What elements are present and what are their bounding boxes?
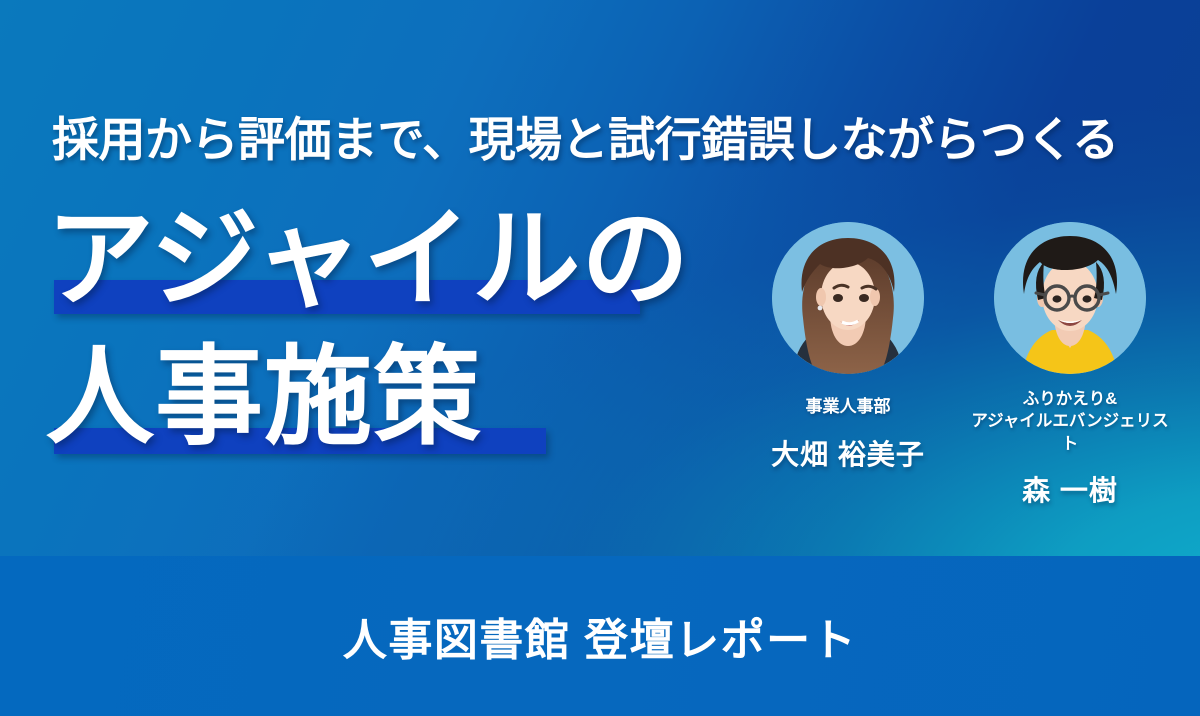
event-report-banner: 採用から評価まで、現場と試行錯誤しながらつくる アジャイルの 人事施策 xyxy=(0,0,1200,716)
title-line-1: アジャイルの xyxy=(46,198,746,328)
banner-footer-label: 人事図書館 登壇レポート xyxy=(0,556,1200,716)
speaker-2-role: ふりかえり& アジャイルエバンジェリスト xyxy=(970,388,1170,455)
speaker-list: 事業人事部 大畑 裕美子 xyxy=(748,214,1170,509)
title-line-2-text: 人事施策 xyxy=(46,336,746,458)
speaker-1-name: 大畑 裕美子 xyxy=(748,433,948,473)
banner-title: アジャイルの 人事施策 xyxy=(46,198,746,466)
speaker-2-avatar xyxy=(994,222,1146,374)
banner-content: 採用から評価まで、現場と試行錯誤しながらつくる アジャイルの 人事施策 xyxy=(0,0,1200,716)
speaker-2-name: 森 一樹 xyxy=(970,469,1170,509)
title-line-2: 人事施策 xyxy=(46,336,746,466)
speaker-1-avatar xyxy=(772,222,924,374)
title-line-1-text: アジャイルの xyxy=(46,198,746,320)
banner-subtitle: 採用から評価まで、現場と試行錯誤しながらつくる xyxy=(52,112,1119,167)
speaker-card-1: 事業人事部 大畑 裕美子 xyxy=(748,214,948,509)
speaker-1-role: 事業人事部 xyxy=(748,396,948,419)
speaker-card-2: ふりかえり& アジャイルエバンジェリスト 森 一樹 xyxy=(970,214,1170,509)
